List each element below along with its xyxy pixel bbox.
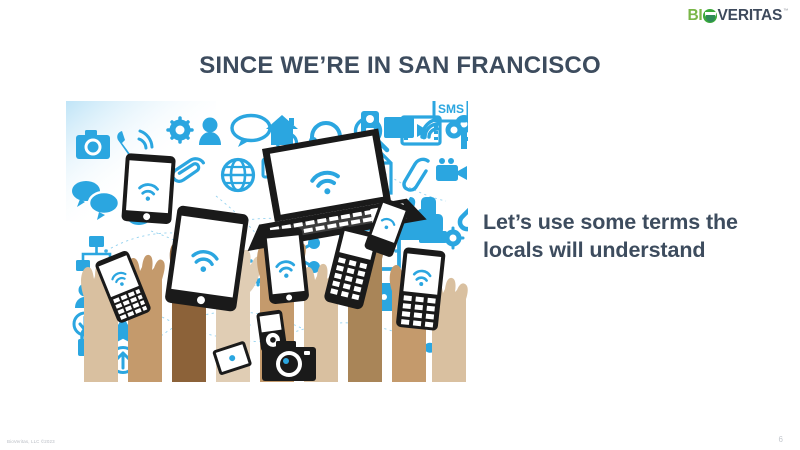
illustration-svg: SMS bbox=[66, 101, 468, 382]
tablet-device bbox=[164, 205, 249, 312]
slide-page-number: 6 bbox=[779, 435, 783, 444]
monitor-icon-2 bbox=[384, 117, 414, 138]
camera-device bbox=[262, 341, 316, 381]
slide-title: SINCE WE’RE IN SAN FRANCISCO bbox=[0, 52, 800, 80]
slide-body-text: Let’s use some terms the locals will und… bbox=[483, 208, 773, 265]
logo-text-bio: BI bbox=[687, 8, 702, 24]
feature-phone-device bbox=[396, 247, 446, 331]
logo-trademark-symbol: ™ bbox=[783, 8, 788, 14]
logo-text-veritas: VERITAS bbox=[718, 8, 783, 24]
smartphone-device-2 bbox=[262, 227, 310, 305]
footer-copyright: BioVeritas, LLC ©2023 bbox=[7, 439, 55, 444]
illustration-hands-holding-devices: SMS bbox=[66, 101, 468, 382]
brand-logo: BI VERITAS ™ bbox=[687, 7, 788, 25]
svg-text:SMS: SMS bbox=[438, 102, 464, 116]
logo-globe-icon bbox=[703, 9, 717, 23]
tablet-device-small bbox=[121, 153, 176, 224]
